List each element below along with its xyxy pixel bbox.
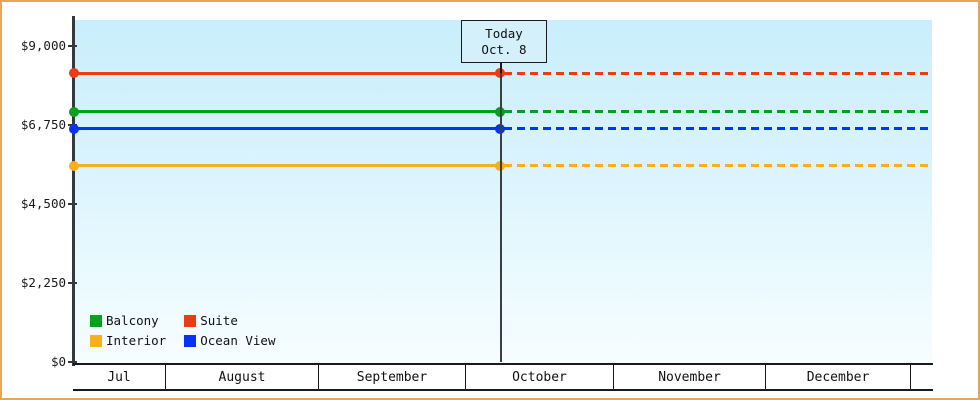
series-marker <box>69 107 79 117</box>
y-tick-label: $2,250 <box>2 275 66 290</box>
x-axis-months: JulAugustSeptemberOctoberNovemberDecembe… <box>73 363 933 391</box>
today-date: Oct. 8 <box>481 42 526 58</box>
legend-label: Suite <box>200 313 238 328</box>
series-line-forecast <box>504 72 932 75</box>
series-line-forecast <box>504 110 932 113</box>
today-label: Today <box>485 26 523 42</box>
legend-item[interactable]: Balcony <box>90 313 166 328</box>
today-callout-stem <box>500 63 502 73</box>
y-tick-label: $6,750 <box>2 117 66 132</box>
x-axis-month-cell-empty[interactable] <box>911 365 931 389</box>
legend-swatch <box>90 335 102 347</box>
legend-item[interactable]: Interior <box>90 333 166 348</box>
x-axis-month-cell[interactable]: October <box>466 365 614 389</box>
series-line-solid <box>74 164 500 167</box>
legend-swatch <box>184 315 196 327</box>
series-line-forecast <box>504 164 932 167</box>
series-line-solid <box>74 72 500 75</box>
x-axis-month-cell[interactable]: September <box>319 365 466 389</box>
x-axis-month-cell[interactable]: August <box>166 365 319 389</box>
y-tick-mark <box>68 203 77 205</box>
legend-label: Interior <box>106 333 166 348</box>
y-tick-label: $9,000 <box>2 38 66 53</box>
x-axis-month-cell[interactable]: November <box>614 365 766 389</box>
y-tick-label: $0 <box>2 354 66 369</box>
series-line-forecast <box>504 127 932 130</box>
series-line-solid <box>74 127 500 130</box>
chart-legend: BalconySuiteInteriorOcean View <box>90 313 275 348</box>
y-tick-mark <box>68 282 77 284</box>
legend-label: Ocean View <box>200 333 275 348</box>
series-marker <box>69 161 79 171</box>
x-axis-month-cell[interactable]: December <box>766 365 911 389</box>
x-axis-month-cell[interactable]: Jul <box>73 365 166 389</box>
today-callout-box: Today Oct. 8 <box>461 20 547 63</box>
chart-frame: $9,000$6,750$4,500$2,250$0 Today Oct. 8 … <box>0 0 980 400</box>
series-line-solid <box>74 110 500 113</box>
legend-item[interactable]: Ocean View <box>184 333 275 348</box>
legend-swatch <box>90 315 102 327</box>
legend-swatch <box>184 335 196 347</box>
y-tick-label: $4,500 <box>2 196 66 211</box>
legend-item[interactable]: Suite <box>184 313 275 328</box>
legend-label: Balcony <box>106 313 159 328</box>
series-marker <box>69 124 79 134</box>
y-tick-mark <box>68 45 77 47</box>
